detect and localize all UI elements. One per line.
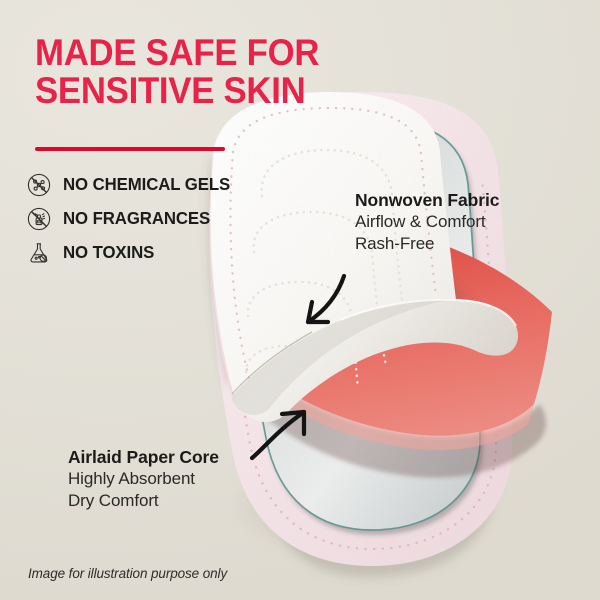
page-title: MADE SAFE FOR SENSITIVE SKIN — [35, 34, 345, 109]
callout-airlaid-paper-core: Airlaid Paper Core Highly Absorbent Dry … — [68, 446, 219, 512]
feature-list: NO CHEMICAL GELS NO FRAGRANCES — [26, 168, 286, 270]
list-item: NO FRAGRANCES — [26, 202, 286, 235]
callout-title: Airlaid Paper Core — [68, 446, 219, 468]
callout-line-2: Dry Comfort — [68, 490, 219, 512]
headline-line-1: MADE SAFE FOR — [35, 32, 319, 73]
callout-line-1: Highly Absorbent — [68, 468, 219, 490]
headline-divider — [35, 147, 225, 151]
headline-line-2: SENSITIVE SKIN — [35, 72, 345, 110]
disclaimer-text: Image for illustration purpose only — [28, 566, 227, 581]
product-infographic: MADE SAFE FOR SENSITIVE SKIN NO CHEMICAL… — [0, 0, 600, 600]
no-chemical-gels-icon — [26, 172, 52, 198]
list-item-label: NO FRAGRANCES — [63, 208, 210, 229]
no-fragrances-icon — [26, 206, 52, 232]
callout-nonwoven-fabric: Nonwoven Fabric Airflow & Comfort Rash-F… — [355, 189, 499, 255]
no-toxins-icon — [26, 240, 52, 266]
list-item: NO CHEMICAL GELS — [26, 168, 286, 201]
list-item-label: NO CHEMICAL GELS — [63, 174, 230, 195]
callout-line-2: Rash-Free — [355, 233, 499, 255]
list-item: NO TOXINS — [26, 236, 286, 269]
callout-line-1: Airflow & Comfort — [355, 211, 499, 233]
list-item-label: NO TOXINS — [63, 242, 154, 263]
callout-title: Nonwoven Fabric — [355, 189, 499, 211]
